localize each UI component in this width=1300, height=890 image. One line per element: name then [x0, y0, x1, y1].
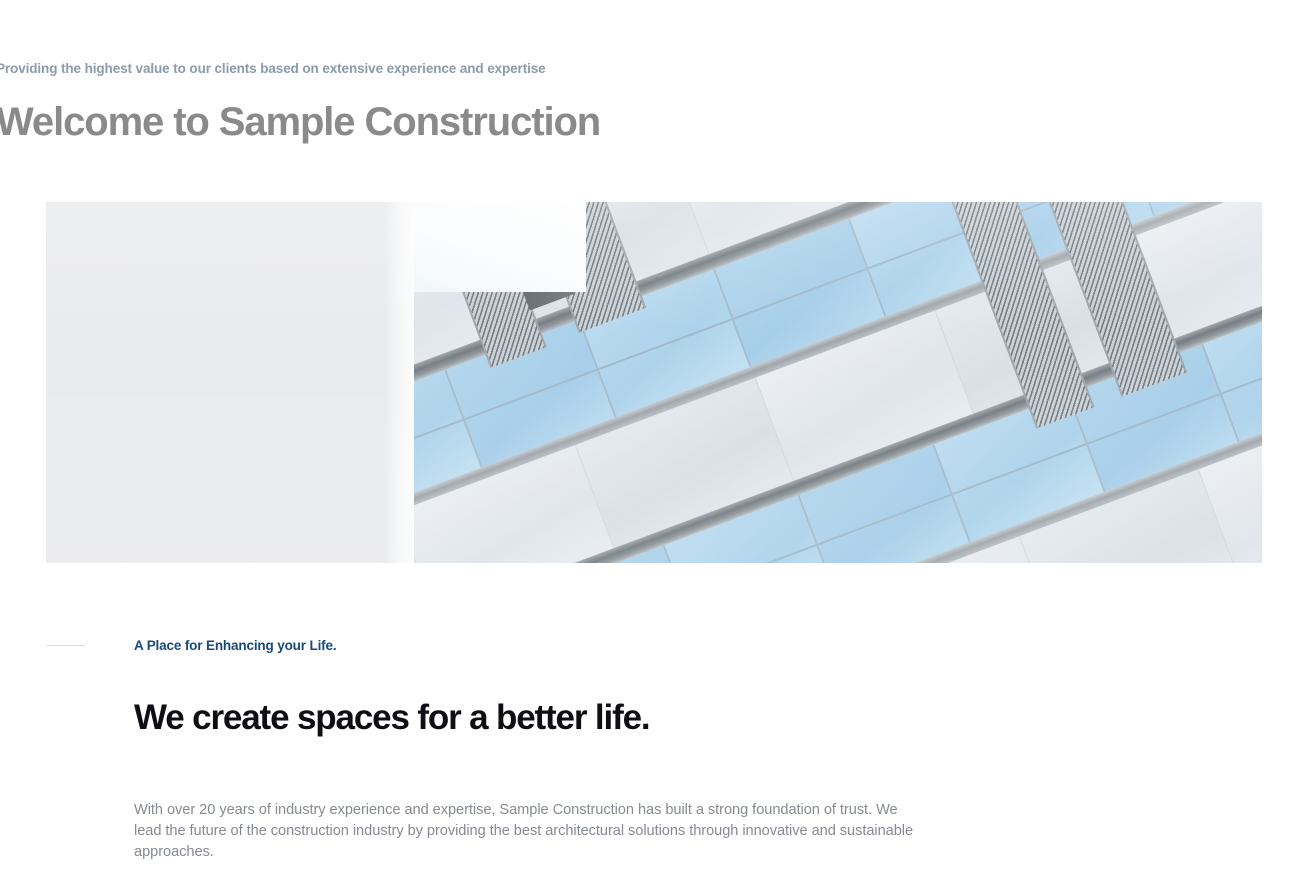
section-heading: We create spaces for a better life. — [134, 698, 649, 738]
kicker-label: A Place for Enhancing your Life. — [134, 638, 337, 653]
section-paragraph: With over 20 years of industry experienc… — [134, 800, 924, 863]
page-title: Welcome to Sample Construction — [0, 100, 600, 145]
section-paragraph-wrapper: With over 20 years of industry experienc… — [134, 800, 924, 863]
section-kicker: A Place for Enhancing your Life. — [46, 638, 337, 653]
kicker-divider — [46, 645, 85, 646]
hero-image — [46, 202, 1262, 563]
header-eyebrow: Providing the highest value to our clien… — [0, 61, 546, 76]
image-placeholder-block — [46, 202, 388, 563]
